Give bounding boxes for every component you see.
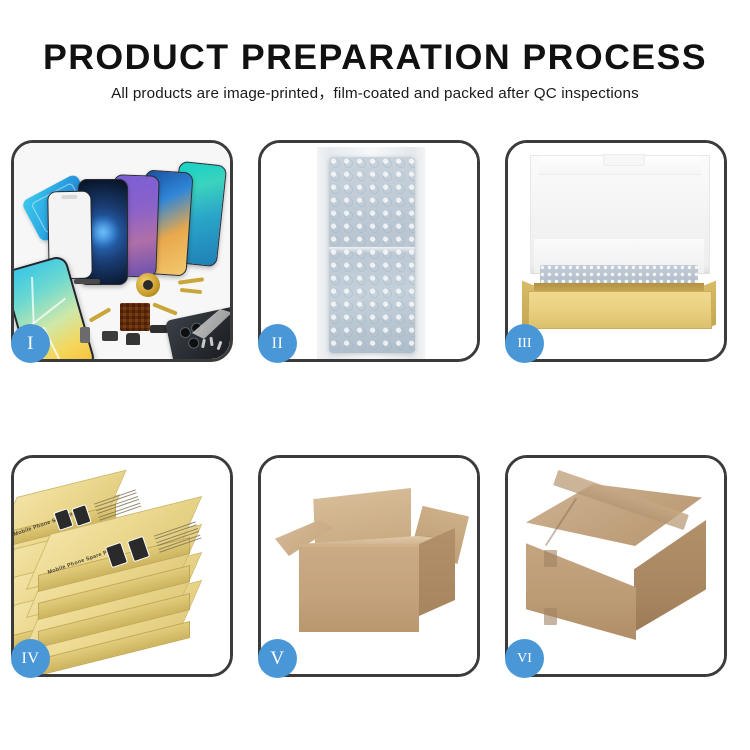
step-badge-6: VI [505, 639, 544, 678]
part-flex-cable-icon [89, 307, 112, 322]
mailer-box-front-panel [528, 291, 712, 329]
carton-flap-tab [544, 550, 557, 567]
bubble-wrap-package [329, 157, 415, 353]
crack-line-icon [30, 298, 66, 326]
part-button-icon [102, 331, 118, 341]
step-badge-4: IV [11, 639, 50, 678]
step-panel-4[interactable]: Mobile Phone Spare Parts [11, 455, 233, 677]
part-connector-icon [80, 327, 90, 343]
step-panel-5[interactable]: V [258, 455, 480, 677]
part-speaker-icon [74, 279, 100, 284]
carton-front-panel [299, 544, 419, 632]
screws-group-icon [202, 337, 228, 357]
step-panel-6[interactable]: VI [505, 455, 727, 677]
part-vibrator-coil-icon [136, 273, 160, 297]
step-panel-3[interactable]: III [505, 140, 727, 362]
step-image-1 [14, 143, 230, 359]
carton-flap-tab [544, 608, 557, 625]
step-badge-5: V [258, 639, 297, 678]
part-flex-cable-icon [152, 302, 178, 315]
camera-lens-icon [187, 337, 200, 350]
step-badge-1: I [11, 324, 50, 363]
part-flex-cable-icon [178, 277, 204, 285]
step-image-3 [508, 143, 724, 359]
page-title: PRODUCT PREPARATION PROCESS [0, 40, 750, 75]
step-badge-3: III [505, 324, 544, 363]
step-panel-1[interactable]: I [11, 140, 233, 362]
step-badge-2: II [258, 324, 297, 363]
camera-lens-icon [179, 326, 192, 339]
part-logic-board-icon [120, 303, 150, 331]
step-image-4: Mobile Phone Spare Parts [14, 458, 230, 674]
step-panel-2[interactable]: II [258, 140, 480, 362]
step-image-2 [261, 143, 477, 359]
carton-seam [299, 544, 419, 547]
steps-grid: I II III [11, 140, 739, 688]
box-stack: Mobile Phone Spare Parts [14, 466, 230, 674]
product-preparation-process-page: PRODUCT PREPARATION PROCESS All products… [0, 0, 750, 750]
step-image-6 [508, 458, 724, 674]
phone-notch-icon [61, 195, 77, 199]
part-flex-cable-icon [180, 288, 202, 294]
step-image-5 [261, 458, 477, 674]
part-camera-module-icon [126, 333, 140, 345]
page-subtitle: All products are image-printed，film-coat… [0, 86, 750, 101]
spare-parts-cluster [74, 271, 230, 359]
